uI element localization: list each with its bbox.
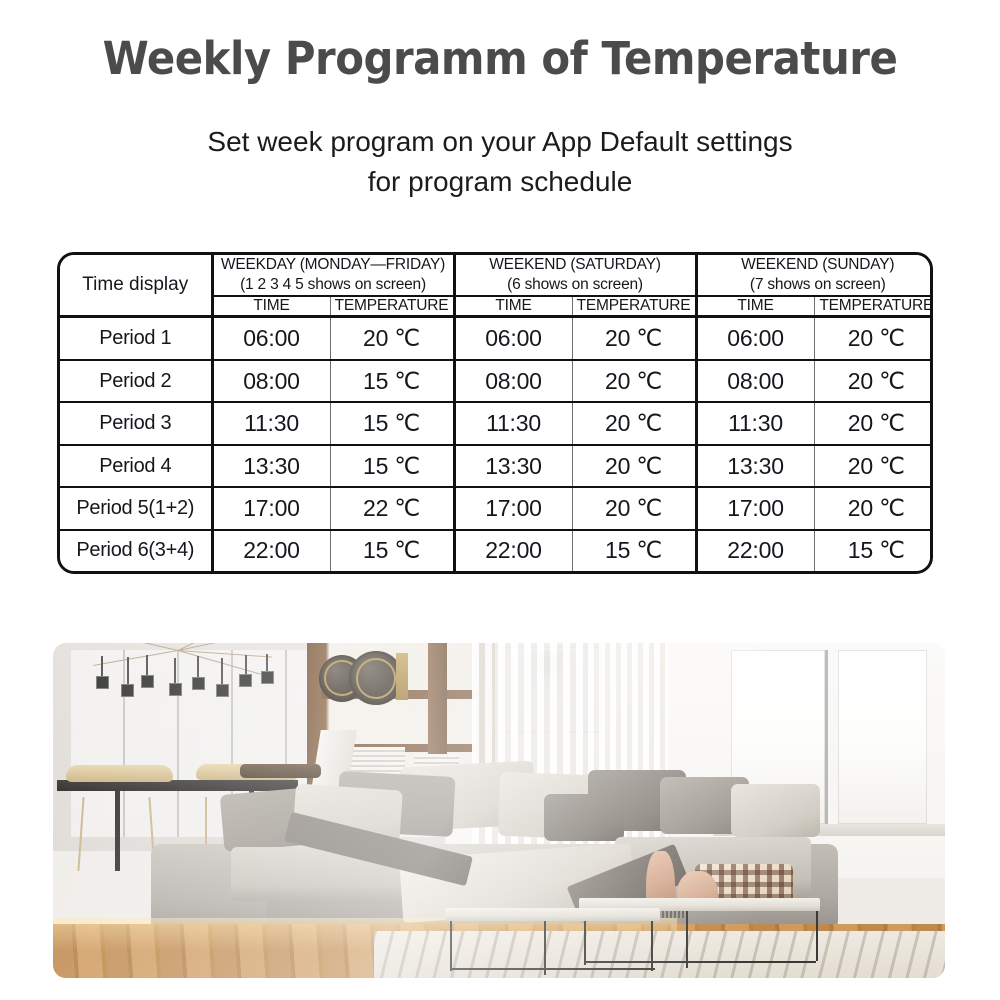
cell-saturday-temp: 20 ℃ [572, 360, 696, 403]
cell-sunday-time: 11:30 [696, 402, 814, 445]
cell-saturday-time: 22:00 [454, 530, 572, 571]
cell-weekday-temp: 20 ℃ [330, 317, 454, 360]
cell-weekday-temp: 15 ℃ [330, 360, 454, 403]
header-row-groups: Time display WEEKDAY (MONDAY—FRIDAY) (1 … [60, 255, 933, 296]
table-header: Time display WEEKDAY (MONDAY—FRIDAY) (1 … [60, 255, 933, 317]
subheader-sunday-temp: TEMPERATURE [814, 296, 933, 317]
cell-sunday-temp: 20 ℃ [814, 487, 933, 530]
cell-saturday-temp: 20 ℃ [572, 487, 696, 530]
table-row: Period 3 11:30 15 ℃ 11:30 20 ℃ 11:30 20 … [60, 402, 933, 445]
cell-sunday-temp: 20 ℃ [814, 317, 933, 360]
cell-saturday-time: 11:30 [454, 402, 572, 445]
cell-weekday-time: 22:00 [212, 530, 330, 571]
group-header-weekday: WEEKDAY (MONDAY—FRIDAY) (1 2 3 4 5 shows… [212, 255, 454, 296]
cell-weekday-temp: 15 ℃ [330, 402, 454, 445]
schedule-table: Time display WEEKDAY (MONDAY—FRIDAY) (1 … [60, 255, 933, 571]
cell-saturday-time: 13:30 [454, 445, 572, 488]
cell-weekday-time: 06:00 [212, 317, 330, 360]
row-label: Period 2 [60, 360, 212, 403]
cell-weekday-temp: 15 ℃ [330, 445, 454, 488]
weekly-program-table: Time display WEEKDAY (MONDAY—FRIDAY) (1 … [57, 252, 933, 574]
cell-weekday-time: 13:30 [212, 445, 330, 488]
subheader-weekday-temp: TEMPERATURE [330, 296, 454, 317]
group-header-saturday: WEEKEND (SATURDAY) (6 shows on screen) [454, 255, 696, 296]
cell-saturday-temp: 20 ℃ [572, 402, 696, 445]
cell-weekday-time: 08:00 [212, 360, 330, 403]
row-label: Period 6(3+4) [60, 530, 212, 571]
subheader-sunday-time: TIME [696, 296, 814, 317]
row-label: Period 3 [60, 402, 212, 445]
cell-sunday-time: 06:00 [696, 317, 814, 360]
group-saturday-name: WEEKEND (SATURDAY) [456, 255, 695, 275]
cell-sunday-temp: 15 ℃ [814, 530, 933, 571]
cell-saturday-time: 08:00 [454, 360, 572, 403]
cell-saturday-time: 17:00 [454, 487, 572, 530]
subheader-weekday-time: TIME [212, 296, 330, 317]
cell-sunday-temp: 20 ℃ [814, 445, 933, 488]
subheader-saturday-time: TIME [454, 296, 572, 317]
cell-sunday-time: 08:00 [696, 360, 814, 403]
living-room-photo [53, 643, 945, 978]
cell-weekday-time: 11:30 [212, 402, 330, 445]
cell-saturday-temp: 20 ℃ [572, 317, 696, 360]
time-display-header: Time display [60, 255, 212, 317]
cell-weekday-temp: 22 ℃ [330, 487, 454, 530]
group-sunday-note: (7 shows on screen) [698, 275, 933, 295]
group-saturday-note: (6 shows on screen) [456, 275, 695, 295]
page-title: Weekly Programm of Temperature [35, 32, 965, 85]
table-row: Period 6(3+4) 22:00 15 ℃ 22:00 15 ℃ 22:0… [60, 530, 933, 571]
table-row: Period 4 13:30 15 ℃ 13:30 20 ℃ 13:30 20 … [60, 445, 933, 488]
subheader-saturday-temp: TEMPERATURE [572, 296, 696, 317]
row-label: Period 4 [60, 445, 212, 488]
subtitle-line-1: Set week program on your App Default set… [100, 122, 900, 162]
cell-saturday-temp: 15 ℃ [572, 530, 696, 571]
row-label: Period 5(1+2) [60, 487, 212, 530]
group-weekday-note: (1 2 3 4 5 shows on screen) [214, 275, 453, 295]
cell-sunday-temp: 20 ℃ [814, 360, 933, 403]
cell-weekday-time: 17:00 [212, 487, 330, 530]
cell-sunday-time: 22:00 [696, 530, 814, 571]
table-row: Period 2 08:00 15 ℃ 08:00 20 ℃ 08:00 20 … [60, 360, 933, 403]
cell-saturday-time: 06:00 [454, 317, 572, 360]
table-body: Period 1 06:00 20 ℃ 06:00 20 ℃ 06:00 20 … [60, 317, 933, 572]
cell-sunday-time: 17:00 [696, 487, 814, 530]
photo-light-sheen [53, 643, 945, 978]
table-row: Period 1 06:00 20 ℃ 06:00 20 ℃ 06:00 20 … [60, 317, 933, 360]
subtitle-line-2: for program schedule [100, 162, 900, 202]
table-row: Period 5(1+2) 17:00 22 ℃ 17:00 20 ℃ 17:0… [60, 487, 933, 530]
row-label: Period 1 [60, 317, 212, 360]
group-weekday-name: WEEKDAY (MONDAY—FRIDAY) [214, 255, 453, 275]
cell-sunday-temp: 20 ℃ [814, 402, 933, 445]
cell-saturday-temp: 20 ℃ [572, 445, 696, 488]
cell-weekday-temp: 15 ℃ [330, 530, 454, 571]
group-header-sunday: WEEKEND (SUNDAY) (7 shows on screen) [696, 255, 933, 296]
page-subtitle: Set week program on your App Default set… [100, 122, 900, 202]
group-sunday-name: WEEKEND (SUNDAY) [698, 255, 933, 275]
cell-sunday-time: 13:30 [696, 445, 814, 488]
